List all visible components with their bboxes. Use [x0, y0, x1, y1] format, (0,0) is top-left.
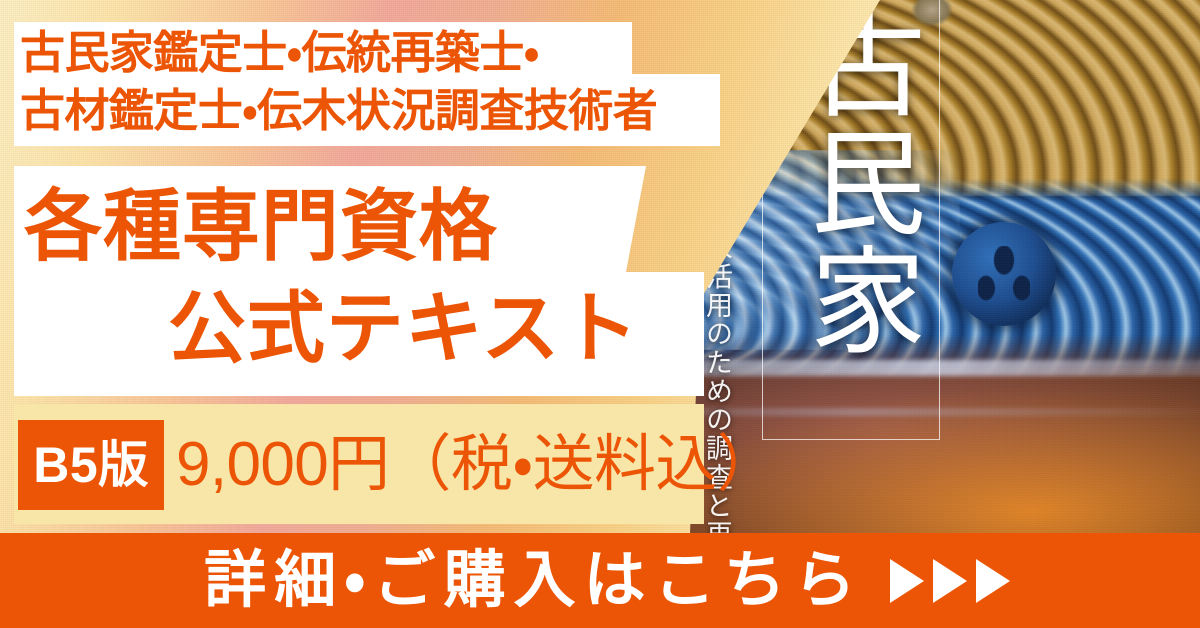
main-title-line2: 公式テキスト	[168, 278, 639, 378]
format-badge-label: B5版	[18, 420, 164, 510]
triangle-right-icon	[976, 559, 1010, 603]
cta-bar[interactable]: 詳細・ご購入はこちら	[0, 533, 1200, 628]
cta-label: 詳細・ご購入はこちら	[190, 550, 864, 612]
qualifications-headline-line1: 古民家鑑定士・伝統再築士・	[20, 24, 740, 82]
format-badge: B5版	[18, 420, 164, 510]
cta-arrows	[890, 559, 1010, 603]
qualifications-headline: 古民家鑑定士・伝統再築士・ 古材鑑定士・伝木状況調査技術者	[20, 24, 740, 140]
qualifications-headline-line2: 古材鑑定士・伝木状況調査技術者	[20, 82, 740, 140]
triangle-right-icon	[933, 559, 967, 603]
promo-banner: 古民家 伝統構法 古民家活用のための調査と再生の 古民家鑑定士・伝統再築士・ 古…	[0, 0, 1200, 628]
triangle-right-icon	[890, 559, 924, 603]
main-title-line1: 各種専門資格	[24, 176, 498, 276]
price-amount: 9,000円（税・送料込）	[176, 424, 778, 506]
